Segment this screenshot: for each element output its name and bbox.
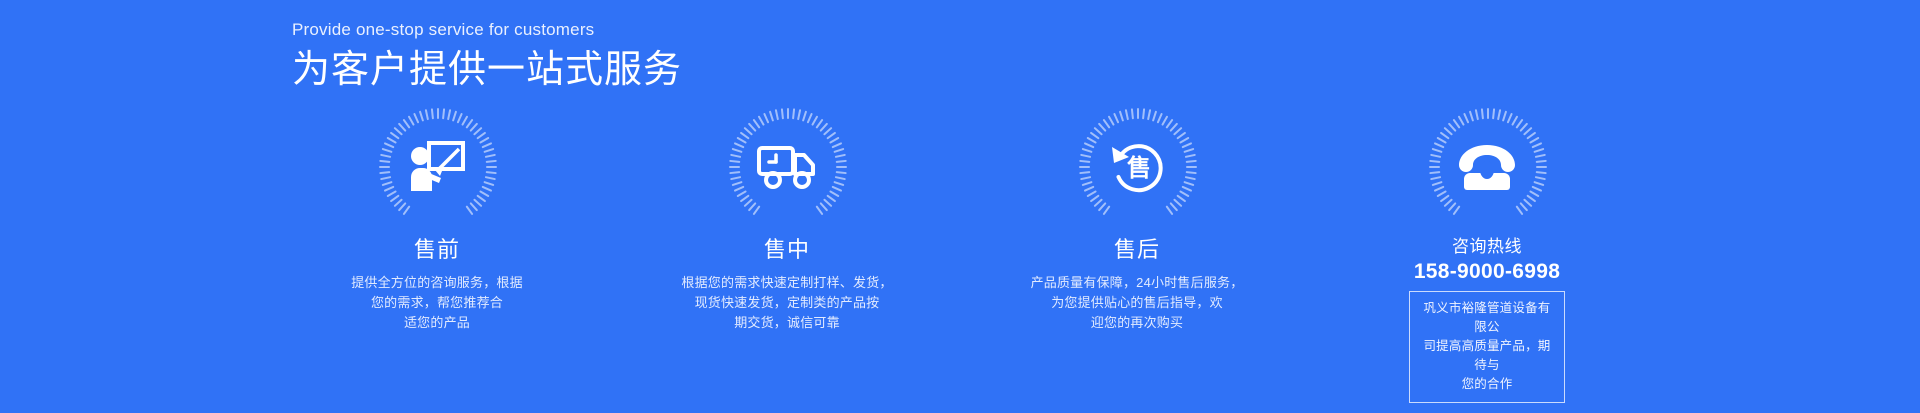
ring-tick (379, 166, 390, 168)
ring-tick (1082, 148, 1093, 153)
ring-tick (831, 142, 842, 148)
ring-tick (425, 109, 429, 120)
svg-text:售: 售 (1127, 154, 1151, 182)
ring-tick (1453, 205, 1461, 215)
ring-tick (1430, 176, 1441, 180)
ring-tick (1131, 108, 1134, 119)
ring-tick (1080, 176, 1091, 180)
hotline-title: 咨询热线 (1452, 235, 1522, 259)
ring-tick (1481, 108, 1484, 119)
ring-tick (836, 160, 847, 163)
ring-tick (1535, 176, 1546, 180)
ring-tick (1429, 171, 1440, 174)
ring-tick (1429, 166, 1440, 168)
company-blurb-box: 巩义市裕隆管道设备有限公 司提高高质量产品，期待与 您的合作 (1409, 291, 1565, 403)
ring-tick (781, 108, 784, 119)
ring-tick (1142, 108, 1145, 119)
ring-tick (419, 111, 424, 122)
ring-tick (483, 148, 494, 153)
ring-tick (802, 111, 807, 122)
service-description: 提供全方位的咨询服务，根据 您的需求，帮您推荐合 适您的产品 (351, 273, 523, 333)
ring-tick (1084, 142, 1095, 148)
service-title: 售前 (414, 235, 460, 265)
banner-title: 为客户提供一站式服务 (292, 46, 682, 94)
after-sales-refresh-icon: 售 (1106, 136, 1168, 198)
ring-tick (1152, 111, 1157, 122)
ring-tick (447, 109, 451, 120)
ring-tick (1183, 181, 1194, 186)
ring-tick (379, 160, 390, 163)
ring-tick (1487, 108, 1489, 119)
ring-tick (1080, 154, 1091, 158)
ring-tick (384, 142, 395, 148)
ring-tick (1463, 113, 1469, 124)
ring-tick (380, 176, 391, 180)
ring-tick (379, 171, 390, 174)
ring-tick (1186, 160, 1197, 163)
ring-tick (1119, 111, 1124, 122)
ring-tick (1186, 166, 1197, 168)
ring-tick (380, 154, 391, 158)
ring-tick (413, 113, 419, 124)
service-banner: Provide one-stop service for customers 为… (0, 0, 1920, 413)
icon-ring-wrap-insale (728, 108, 846, 226)
service-column-presale[interactable]: 售前 提供全方位的咨询服务，根据 您的需求，帮您推荐合 适您的产品 (292, 108, 582, 403)
ring-tick (732, 148, 743, 153)
service-columns: 售前 提供全方位的咨询服务，根据 您的需求，帮您推荐合 适您的产品 (292, 108, 1632, 403)
ring-tick (1125, 109, 1129, 120)
ring-tick (485, 154, 496, 158)
ring-tick (442, 108, 445, 119)
ring-tick (452, 111, 457, 122)
ring-tick (1185, 176, 1196, 180)
service-column-insale[interactable]: 售中 根据您的需求快速定制打样、发货， 现货快速发货，定制类的产品按 期交货，诚… (642, 108, 932, 403)
service-column-hotline[interactable]: 咨询热线 158-9000-6998 巩义市裕隆管道设备有限公 司提高高质量产品… (1342, 108, 1632, 403)
ring-tick (481, 142, 492, 148)
ring-tick (486, 166, 497, 168)
service-description: 根据您的需求快速定制打样、发货， 现货快速发货，定制类的产品按 期交货，诚信可靠 (681, 273, 892, 333)
ring-tick (729, 160, 740, 163)
ring-tick (403, 205, 411, 215)
ring-tick (1103, 205, 1111, 215)
icon-ring-wrap-aftersale: 售 (1078, 108, 1196, 226)
ring-tick (382, 181, 393, 186)
ring-tick (1432, 181, 1443, 186)
ring-tick (1079, 166, 1090, 168)
ring-tick (763, 113, 769, 124)
ring-tick (734, 142, 745, 148)
ring-tick (1181, 142, 1192, 148)
ring-tick (486, 171, 497, 174)
ring-tick (836, 171, 847, 174)
ring-tick (483, 181, 494, 186)
ring-tick (1536, 160, 1547, 163)
ring-tick (485, 176, 496, 180)
ring-tick (729, 171, 740, 174)
ring-tick (1079, 171, 1090, 174)
ring-tick (1475, 109, 1479, 120)
ring-tick (1082, 181, 1093, 186)
ring-tick (1432, 148, 1443, 153)
ring-tick (1186, 171, 1197, 174)
ring-tick (730, 176, 741, 180)
ring-tick (1429, 160, 1440, 163)
delivery-truck-clock-icon (756, 136, 818, 198)
ring-tick (729, 166, 740, 168)
ring-tick (835, 176, 846, 180)
ring-tick (437, 108, 439, 119)
ring-tick (797, 109, 801, 120)
ring-tick (1502, 111, 1507, 122)
ring-tick (769, 111, 774, 122)
ring-tick (753, 205, 761, 215)
ring-tick (1079, 160, 1090, 163)
ring-tick (833, 148, 844, 153)
ring-tick (1533, 181, 1544, 186)
ring-tick (836, 166, 847, 168)
ring-tick (486, 160, 497, 163)
ring-tick (787, 108, 789, 119)
icon-ring-wrap-presale (378, 108, 496, 226)
ring-tick (1533, 148, 1544, 153)
ring-tick (833, 181, 844, 186)
ring-tick (775, 109, 779, 120)
hotline-number[interactable]: 158-9000-6998 (1414, 259, 1560, 285)
icon-ring-wrap-hotline (1428, 108, 1546, 226)
ring-tick (1430, 154, 1441, 158)
service-description: 产品质量有保障，24小时售后服务， 为您提供贴心的售后指导，欢 迎您的再次购买 (1031, 273, 1244, 333)
ring-tick (382, 148, 393, 153)
ring-tick (792, 108, 795, 119)
ring-tick (431, 108, 434, 119)
ring-tick (1434, 142, 1445, 148)
ring-tick (835, 154, 846, 158)
ring-tick (1113, 113, 1119, 124)
ring-tick (1147, 109, 1151, 120)
service-title: 售后 (1114, 235, 1160, 265)
ring-tick (1137, 108, 1139, 119)
service-column-aftersale[interactable]: 售 售后 产品质量有保障，24小时售后服务， 为您提供贴心的售后指导，欢 迎您的… (992, 108, 1282, 403)
ring-tick (1536, 171, 1547, 174)
ring-tick (1536, 166, 1547, 168)
ring-tick (730, 154, 741, 158)
ring-tick (1492, 108, 1495, 119)
banner-subtitle: Provide one-stop service for customers (292, 16, 682, 44)
ring-tick (732, 181, 743, 186)
ring-tick (1185, 154, 1196, 158)
ring-tick (1535, 154, 1546, 158)
telephone-icon (1456, 136, 1518, 198)
ring-tick (1531, 142, 1542, 148)
ring-tick (1183, 148, 1194, 153)
ring-tick (1469, 111, 1474, 122)
ring-tick (1497, 109, 1501, 120)
banner-heading-group: Provide one-stop service for customers 为… (292, 16, 682, 94)
presenter-whiteboard-icon (406, 136, 468, 198)
service-title: 售中 (764, 235, 810, 265)
